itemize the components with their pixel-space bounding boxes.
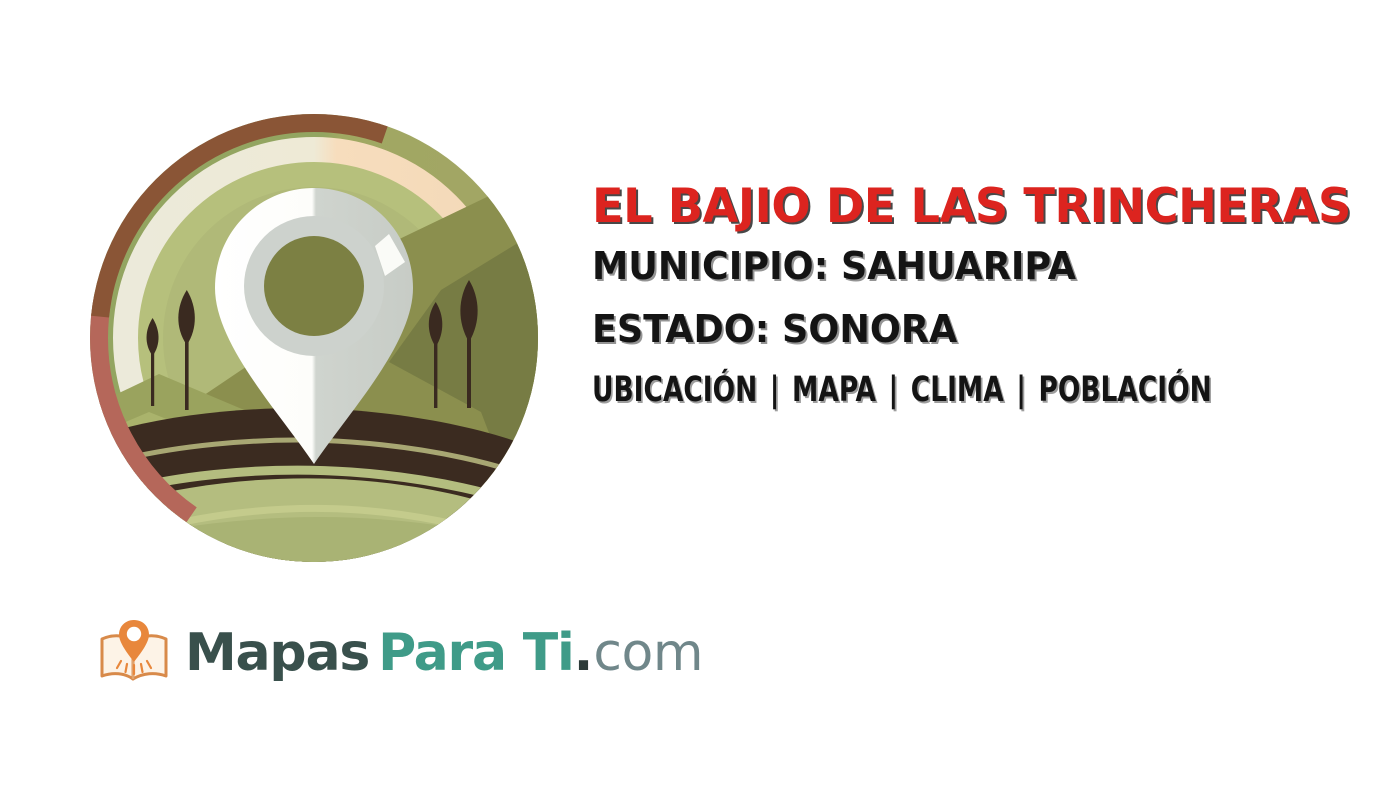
brand-part-parati: Para Ti [378,627,574,679]
nav-item-poblacion[interactable]: POBLACIÓN [1039,370,1212,410]
brand-wordmark: Mapas Para Ti . com [185,627,703,679]
nav-separator: | [885,370,901,410]
nav-separator: | [766,370,782,410]
nav-item-ubicacion[interactable]: UBICACIÓN [592,370,757,410]
nav-item-clima[interactable]: CLIMA [911,370,1004,410]
municipio-line: MUNICIPIO: SAHUARIPA [592,247,1350,285]
info-text-block: EL BAJIO DE LAS TRINCHERAS MUNICIPIO: SA… [592,183,1382,408]
emblem-illustration [89,112,539,564]
brand-logo[interactable]: Mapas Para Ti . com [97,617,703,689]
open-book-map-pin-icon [97,617,171,689]
page-title: EL BAJIO DE LAS TRINCHERAS [592,183,1370,230]
nav-separator: | [1013,370,1029,410]
brand-tld: com [593,627,703,679]
map-pin-landscape-emblem [89,112,539,564]
section-nav[interactable]: UBICACIÓN | MAPA | CLIMA | POBLACIÓN [592,373,1256,408]
estado-line: ESTADO: SONORA [592,310,1350,348]
page-root: EL BAJIO DE LAS TRINCHERAS MUNICIPIO: SA… [0,0,1400,786]
brand-dot: . [574,627,594,679]
nav-item-mapa[interactable]: MAPA [792,370,876,410]
brand-part-mapas: Mapas [185,627,369,679]
